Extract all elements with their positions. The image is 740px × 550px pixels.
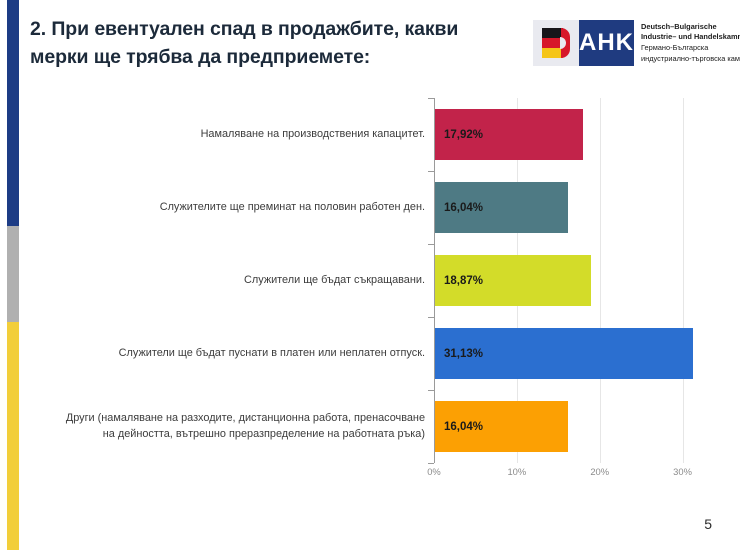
bar[interactable]: 16,04% (435, 182, 568, 233)
y-axis-tick (428, 171, 434, 172)
gridline (683, 98, 684, 463)
bar[interactable]: 17,92% (435, 109, 583, 160)
logo-abbrev-box: AHK (579, 20, 634, 66)
x-axis-tick-label: 20% (590, 466, 609, 477)
bar-row[interactable]: 17,92% (435, 98, 583, 171)
gridline (600, 98, 601, 463)
accent-segment-yellow (7, 322, 19, 550)
y-axis-tick (428, 463, 434, 464)
category-label-line: Служители ще бъдат пуснати в платен или … (25, 345, 425, 361)
category-label-line: Други (намаляване на разходите, дистанци… (25, 410, 425, 426)
page-title: 2. При евентуален спад в продажбите, как… (30, 16, 510, 71)
accent-segment-gray (7, 226, 19, 322)
bar-value-label: 18,87% (444, 275, 483, 287)
y-axis-tick (428, 244, 434, 245)
bar-value-label: 17,92% (444, 129, 483, 141)
logo-abbrev-text: AHK (579, 29, 634, 57)
bar[interactable]: 31,13% (435, 328, 693, 379)
page-title-line-1: 2. При евентуален спад в продажбите, как… (30, 16, 510, 44)
bar-value-label: 31,13% (444, 348, 483, 360)
y-axis-tick (428, 98, 434, 99)
page-number: 5 (704, 516, 712, 532)
x-axis-tick-label: 30% (673, 466, 692, 477)
x-axis-tick-label: 0% (427, 466, 441, 477)
accent-strip (7, 0, 19, 550)
logo-text-line-3: Германо-Българска (641, 43, 740, 54)
bar-row[interactable]: 16,04% (435, 390, 568, 463)
category-label: Намаляване на производствения капацитет. (25, 126, 425, 142)
bar-row[interactable]: 18,87% (435, 244, 591, 317)
category-label-line: Служителите ще преминат на половин работ… (25, 199, 425, 215)
ahk-german-flag-d-mark-icon (533, 20, 579, 66)
slide: 2. При евентуален спад в продажбите, как… (0, 0, 740, 550)
logo-wordmark-text: Deutsch–Bulgarische Industrie– und Hande… (634, 20, 740, 66)
bar-value-label: 16,04% (444, 421, 483, 433)
category-label-line: на дейността, вътрешно преразпределение … (25, 426, 425, 442)
bar-value-label: 16,04% (444, 202, 483, 214)
y-axis-tick (428, 317, 434, 318)
bar-row[interactable]: 31,13% (435, 317, 693, 390)
logo-left-block: AHK (533, 20, 634, 66)
logo-text-line-4: индустриално-търговска камара (641, 54, 740, 65)
x-axis-tick-labels: 0%10%20%30% (434, 466, 734, 486)
category-label: Други (намаляване на разходите, дистанци… (25, 410, 425, 443)
category-label: Служителите ще преминат на половин работ… (25, 199, 425, 215)
logo-text-line-2: Industrie– und Handelskammer (641, 32, 740, 43)
chart-plot-area: 17,92%16,04%18,87%31,13%16,04% (434, 98, 724, 463)
page-title-line-2: мерки ще трябва да предприемете: (30, 44, 510, 72)
accent-segment-navy (7, 0, 19, 226)
category-label-line: Служители ще бъдат съкращавани. (25, 272, 425, 288)
bar-chart: 17,92%16,04%18,87%31,13%16,04% 0%10%20%3… (20, 92, 720, 482)
ahk-logo: AHK Deutsch–Bulgarische Industrie– und H… (533, 20, 731, 66)
bar-row[interactable]: 16,04% (435, 171, 568, 244)
x-axis-tick-label: 10% (507, 466, 526, 477)
bar[interactable]: 16,04% (435, 401, 568, 452)
category-label: Служители ще бъдат пуснати в платен или … (25, 345, 425, 361)
category-label-line: Намаляване на производствения капацитет. (25, 126, 425, 142)
y-axis-tick (428, 390, 434, 391)
logo-text-line-1: Deutsch–Bulgarische (641, 22, 740, 33)
category-label: Служители ще бъдат съкращавани. (25, 272, 425, 288)
bar[interactable]: 18,87% (435, 255, 591, 306)
